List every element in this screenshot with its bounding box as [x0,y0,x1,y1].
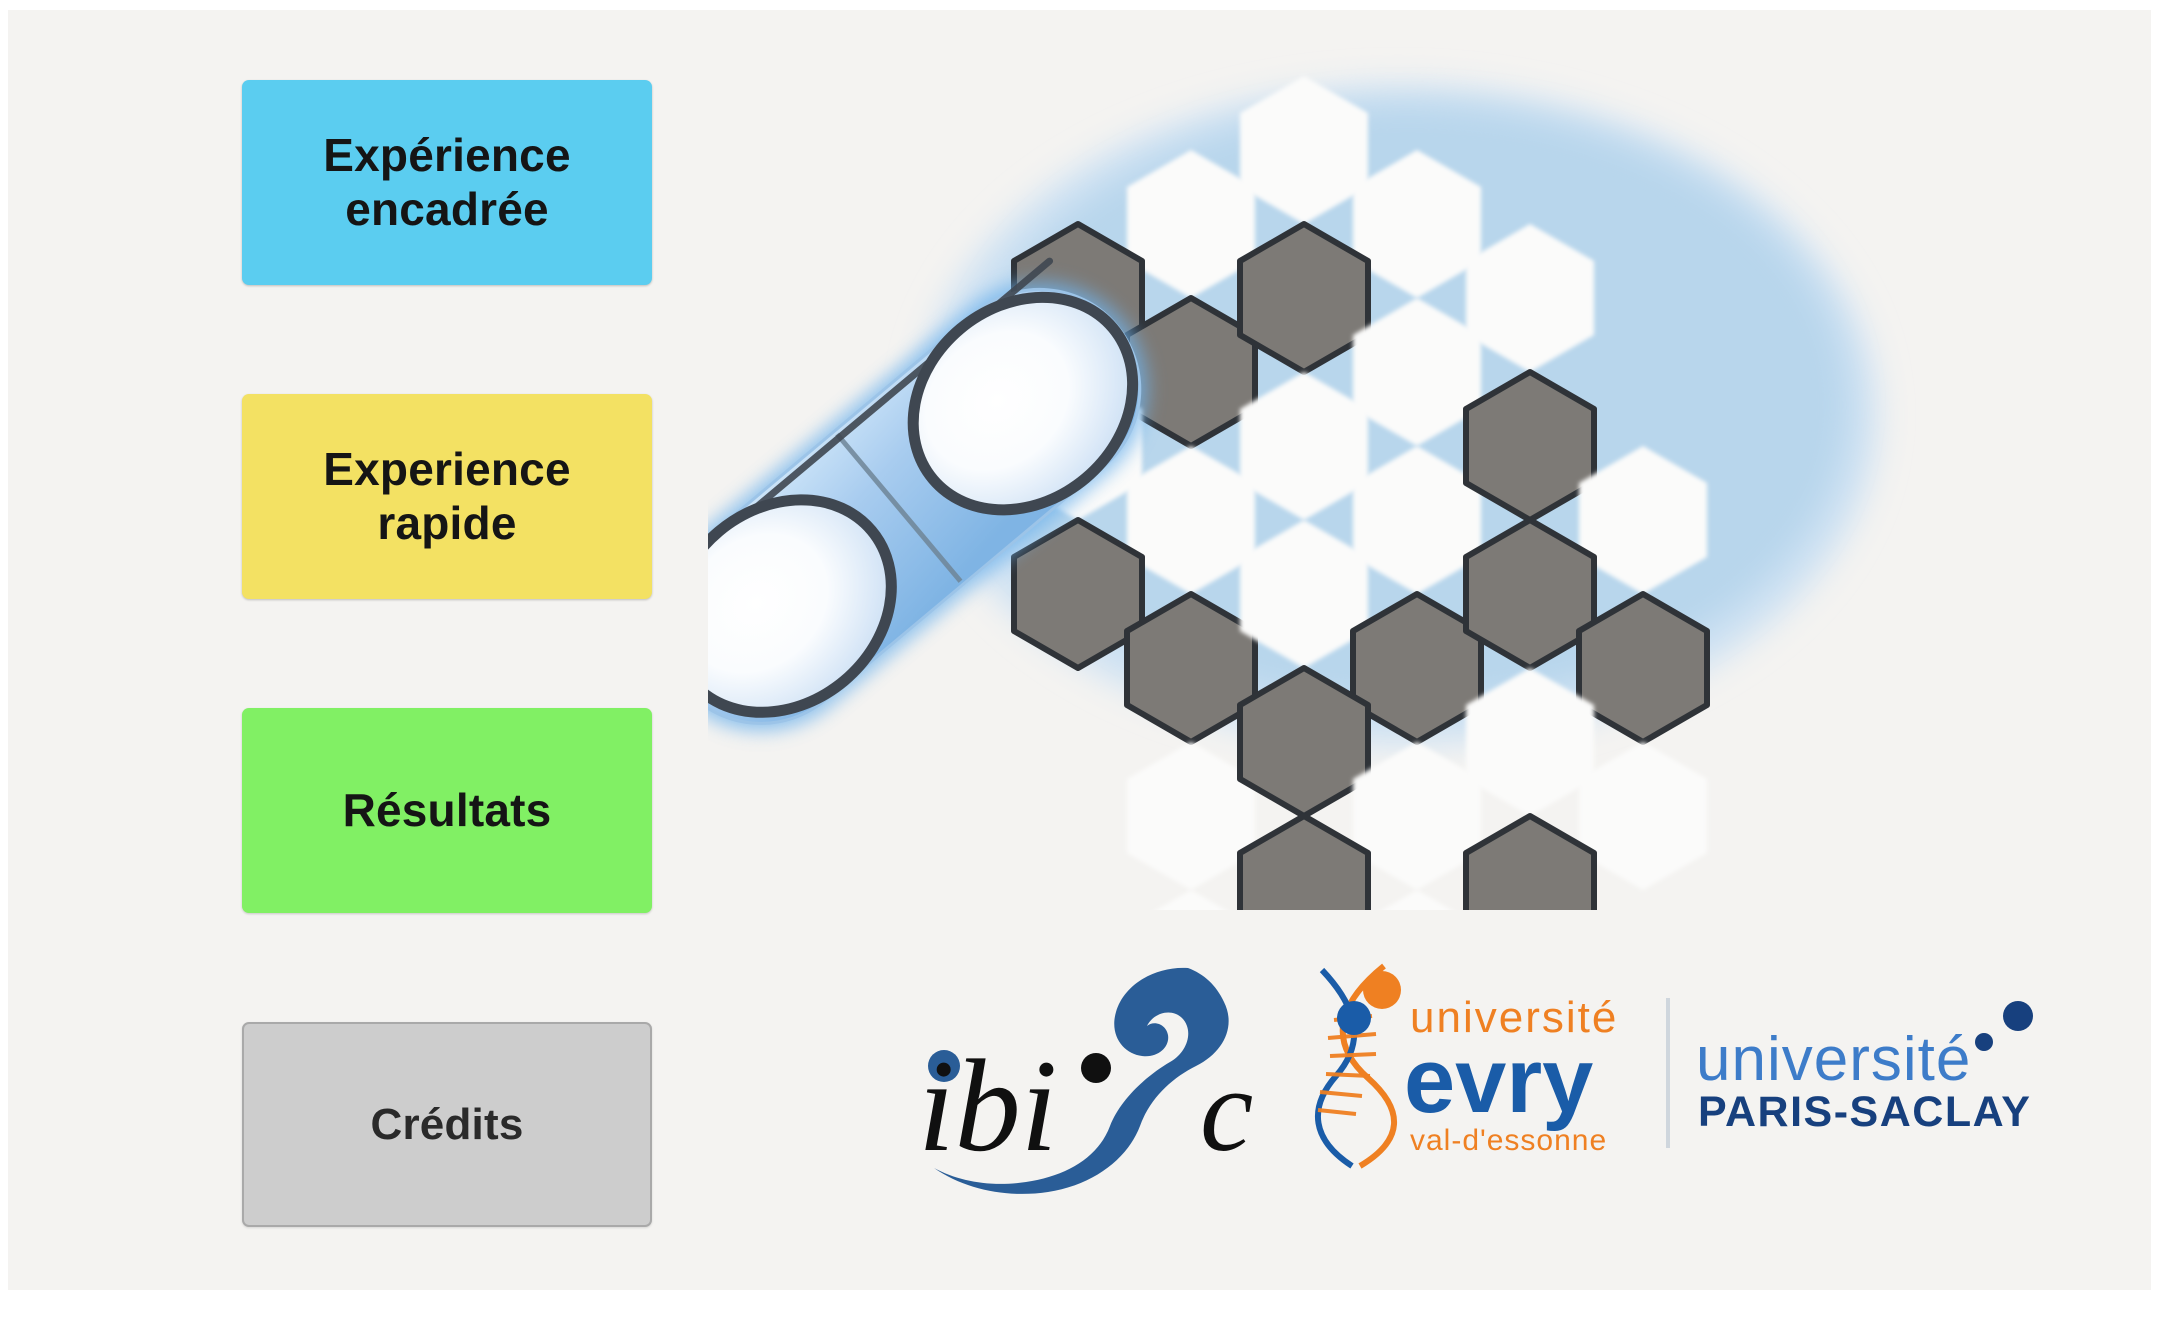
logo-divider [1666,998,1670,1148]
hexagon-cell-white [1127,742,1255,890]
saclay-dot-small [1975,1033,1993,1051]
hexagon-cell-white [1579,742,1707,890]
main-menu: Expérienceencadrée Experiencerapide Résu… [234,72,654,1222]
app-window: Expérienceencadrée Experiencerapide Résu… [8,10,2151,1290]
hexagon-cell-white [1353,742,1481,890]
button-resultats[interactable]: Résultats [242,708,652,913]
evry-line-main: evry [1404,1030,1593,1132]
button-experience-encadree-label: Expérienceencadrée [242,129,652,237]
human-figure-icon [1337,971,1401,1035]
hexagon-cell-white [1127,890,1255,910]
button-credits-label: Crédits [244,1099,650,1150]
ibisc-logo: ibi c [888,950,1258,1200]
hero-illustration [708,30,2128,910]
hexagon-cell-white [1353,890,1481,910]
universite-evry-logo: université evry val-d'essonne [1298,960,1648,1170]
hexagon-cell-gray [1240,816,1368,910]
saclay-dot-large [2003,1001,2033,1031]
ibisc-wordmark-suffix: c [1200,1043,1253,1176]
button-experience-encadree[interactable]: Expérienceencadrée [242,80,652,285]
button-experience-rapide-label: Experiencerapide [242,443,652,551]
evry-line-bottom: val-d'essonne [1410,1124,1607,1157]
saclay-line-bottom: PARIS-SACLAY [1698,1088,2031,1136]
ibisc-wordmark-prefix: ibi [918,1032,1057,1179]
button-experience-rapide[interactable]: Experiencerapide [242,394,652,599]
ibisc-i2-dot [1081,1053,1111,1083]
logo-strip: ibi c [888,940,2148,1230]
button-credits[interactable]: Crédits [242,1022,652,1227]
button-resultats-label: Résultats [242,784,652,838]
universite-paris-saclay-logo: université PARIS-SACLAY [1688,998,2048,1148]
hexagon-cell-gray [1466,816,1594,910]
saclay-line-top: université [1696,1025,1971,1094]
